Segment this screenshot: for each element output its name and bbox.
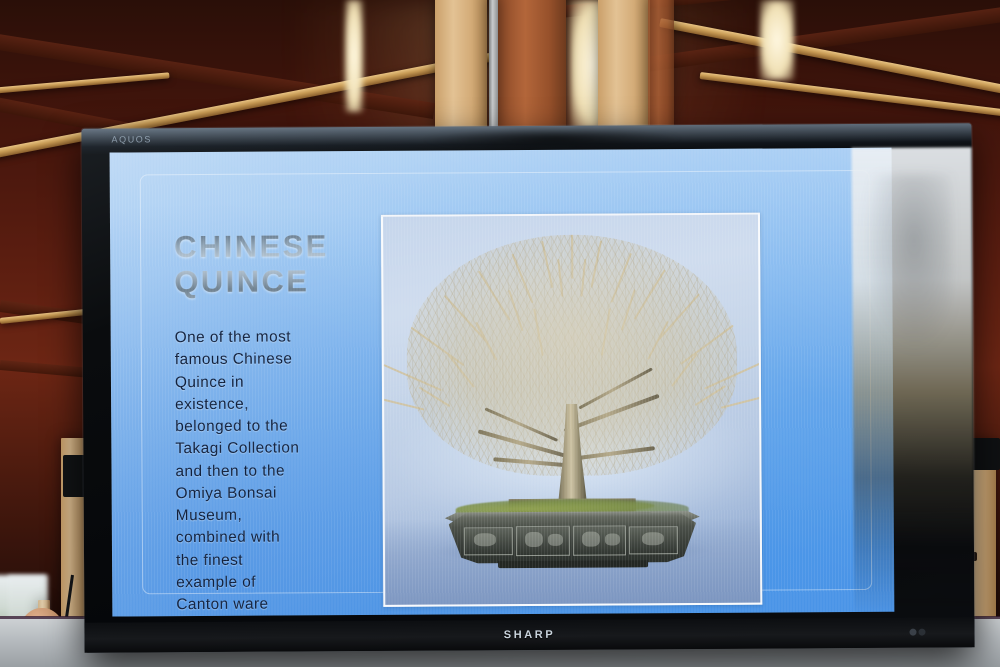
ir-sensor-icon	[909, 629, 916, 636]
wooden-post	[498, 0, 566, 132]
wooden-post	[435, 0, 487, 132]
metal-post-edge	[489, 0, 498, 132]
screen-smudge	[857, 173, 953, 364]
screen-scanlines	[110, 148, 895, 617]
wooden-post	[648, 0, 674, 132]
television[interactable]: AQUOS CHINESE QUINCE One of the most fam…	[81, 123, 974, 652]
bezel-top-smudge	[420, 127, 687, 149]
ceiling-light-gap	[760, 0, 794, 80]
screenshot-stage: AQUOS CHINESE QUINCE One of the most fam…	[0, 0, 1000, 667]
aquos-logo: AQUOS	[111, 134, 152, 144]
wooden-post	[598, 0, 650, 132]
tv-screen[interactable]: CHINESE QUINCE One of the most famous Ch…	[110, 148, 895, 617]
sharp-logo: SHARP	[504, 629, 556, 641]
ceiling-light-gap	[345, 0, 363, 112]
